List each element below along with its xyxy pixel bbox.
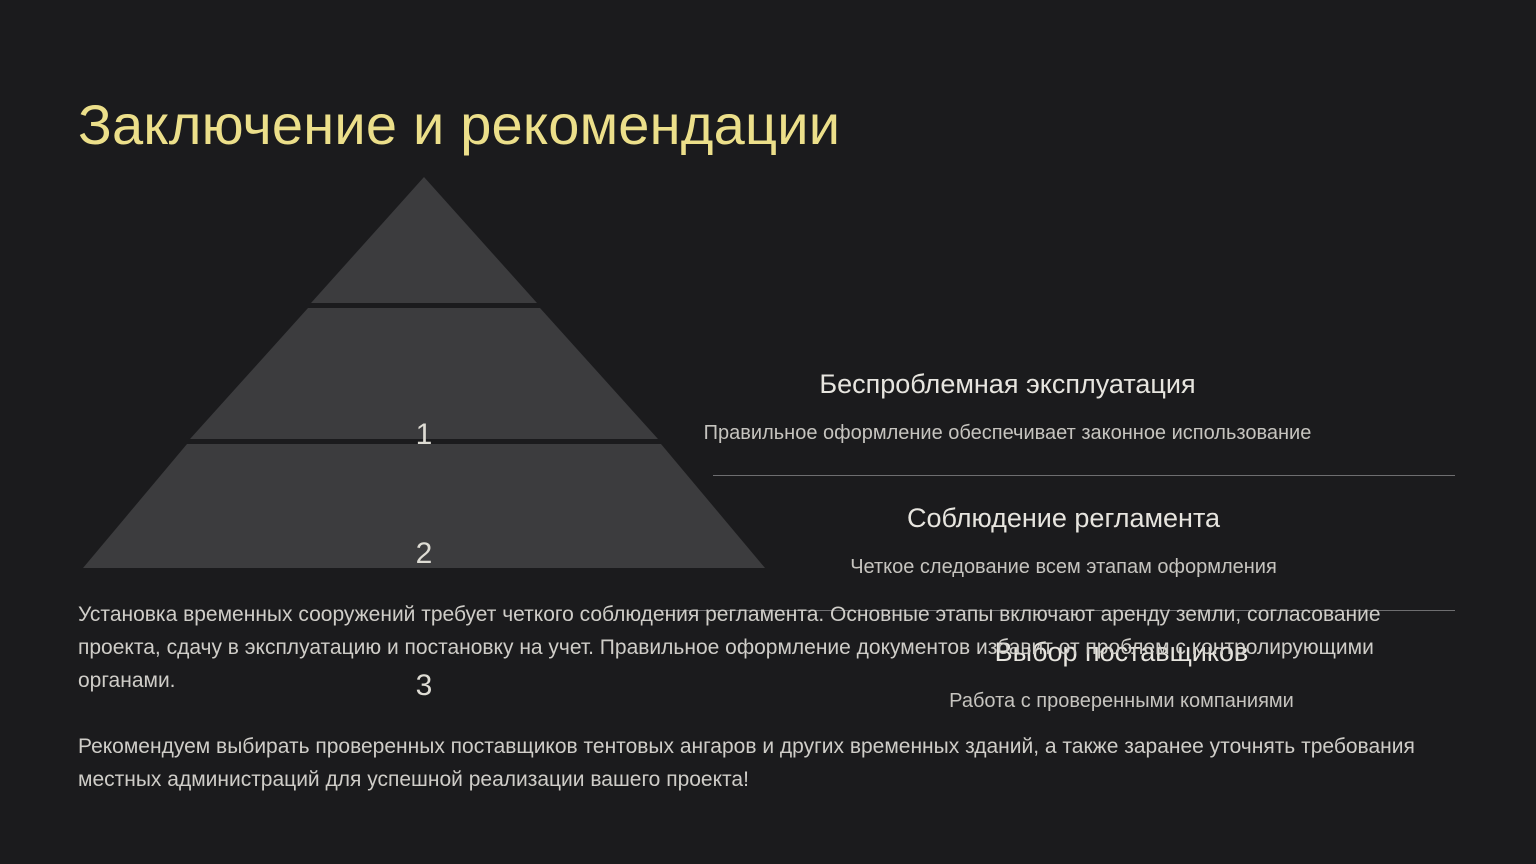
pyramid-level-1-heading: Беспроблемная эксплуатация — [560, 368, 1455, 402]
body-copy: Установка временных сооружений требует ч… — [78, 598, 1438, 796]
pyramid-level-2-label: Соблюдение регламента Четкое следование … — [672, 502, 1455, 580]
pyramid-divider-1 — [713, 475, 1455, 476]
pyramid-level-2-subtitle: Четкое следование всем этапам оформления — [672, 554, 1455, 580]
slide-canvas: Заключение и рекомендации 1 2 3 Беспробл… — [0, 0, 1536, 864]
pyramid-diagram: 1 2 3 Беспроблемная эксплуатация Правиль… — [0, 170, 1536, 580]
body-paragraph-2: Рекомендуем выбирать проверенных поставщ… — [78, 730, 1438, 796]
pyramid-level-1-subtitle: Правильное оформление обеспечивает закон… — [560, 420, 1455, 446]
pyramid-level-1-label: Беспроблемная эксплуатация Правильное оф… — [560, 368, 1455, 446]
pyramid-level-2-number: 2 — [384, 539, 464, 569]
body-paragraph-1: Установка временных сооружений требует ч… — [78, 598, 1438, 697]
page-title: Заключение и рекомендации — [78, 94, 840, 156]
pyramid-level-2-heading: Соблюдение регламента — [672, 502, 1455, 536]
pyramid-level-1-number: 1 — [384, 420, 464, 450]
pyramid-level-1-shape — [311, 177, 537, 303]
